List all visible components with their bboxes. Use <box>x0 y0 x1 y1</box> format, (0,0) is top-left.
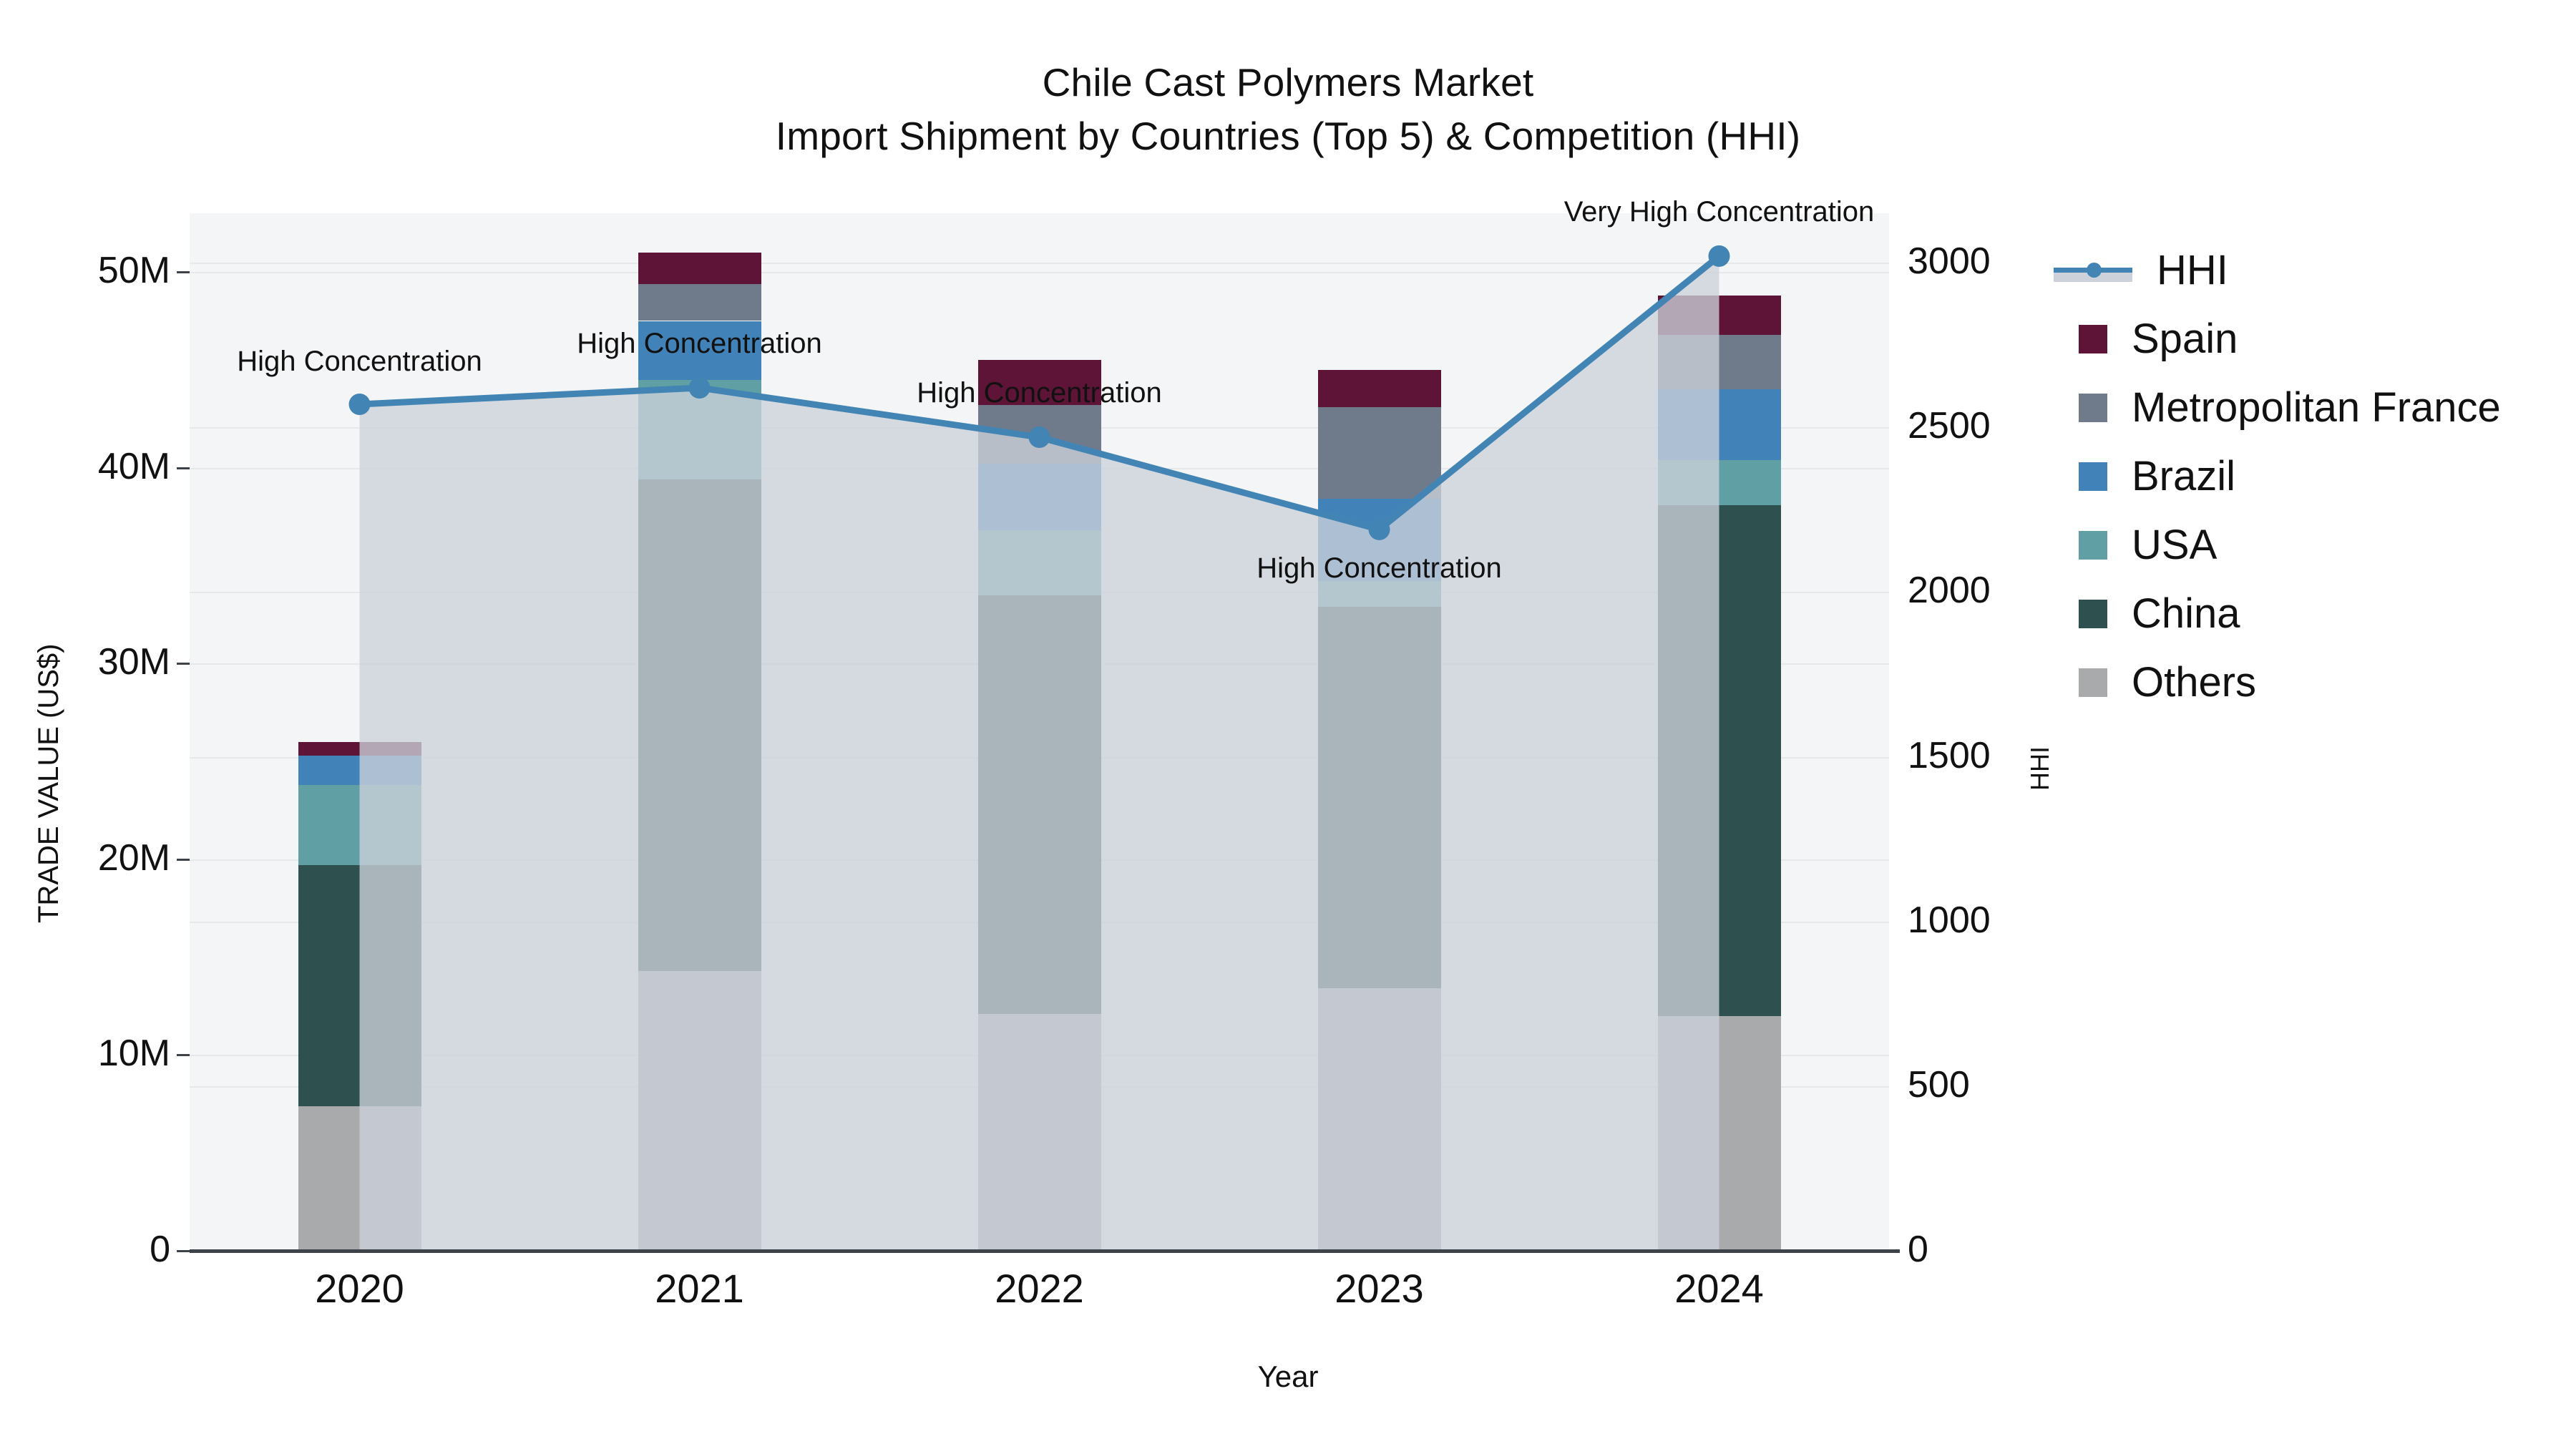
y-axis-left-tickmark-10M <box>177 1054 190 1056</box>
y-axis-left-tick-10M: 10M <box>0 1032 170 1075</box>
y-axis-left-tick-40M: 40M <box>0 445 170 488</box>
y-axis-right-tick-1500: 1500 <box>1908 734 1991 777</box>
x-axis-tick-2022: 2022 <box>897 1265 1183 1312</box>
legend-item-hhi[interactable]: HHI <box>2054 236 2501 305</box>
y-axis-left-tickmark-50M <box>177 271 190 273</box>
y-axis-left-tick-0: 0 <box>0 1228 170 1271</box>
y-axis-left-tickmark-30M <box>177 663 190 665</box>
y-axis-left-tickmark-0 <box>177 1250 190 1252</box>
legend-item-others[interactable]: Others <box>2054 648 2501 717</box>
x-axis-tick-2020: 2020 <box>217 1265 503 1312</box>
legend-swatch-icon <box>2079 462 2107 491</box>
x-axis-baseline <box>190 1249 1900 1253</box>
x-axis-tick-2021: 2021 <box>557 1265 843 1312</box>
legend-item-spain[interactable]: Spain <box>2054 305 2501 374</box>
legend-item-label: USA <box>2132 525 2217 566</box>
legend-item-brazil[interactable]: Brazil <box>2054 442 2501 511</box>
hhi-point-2021[interactable] <box>689 377 711 399</box>
legend-item-label: Metropolitan France <box>2132 387 2501 429</box>
legend-item-label: Brazil <box>2132 456 2235 497</box>
y-axis-left-tickmark-40M <box>177 467 190 469</box>
hhi-point-2024[interactable] <box>1709 245 1730 267</box>
legend-line-dot <box>2087 263 2102 278</box>
legend-item-label: Spain <box>2132 318 2238 360</box>
chart-legend: HHISpainMetropolitan FranceBrazilUSAChin… <box>2054 236 2501 717</box>
legend-swatch-icon <box>2079 531 2107 560</box>
legend-item-label: HHI <box>2157 250 2228 291</box>
y-axis-right-tick-2500: 2500 <box>1908 404 1991 447</box>
x-axis-label: Year <box>0 1360 2576 1394</box>
hhi-annotation-2024: Very High Concentration <box>1433 196 2006 228</box>
legend-swatch-icon <box>2079 668 2107 697</box>
legend-swatch-icon <box>2079 600 2107 628</box>
y-axis-right-tick-1000: 1000 <box>1908 899 1991 942</box>
chart-title-line-1: Chile Cast Polymers Market <box>0 56 2576 109</box>
hhi-point-2022[interactable] <box>1029 426 1050 448</box>
y-axis-left-tickmark-20M <box>177 859 190 861</box>
hhi-point-2023[interactable] <box>1369 519 1390 540</box>
y-axis-right-tick-2000: 2000 <box>1908 569 1991 612</box>
legend-item-usa[interactable]: USA <box>2054 511 2501 580</box>
x-axis-tick-2023: 2023 <box>1236 1265 1523 1312</box>
y-axis-right-tick-3000: 3000 <box>1908 240 1991 283</box>
hhi-point-2020[interactable] <box>349 394 371 415</box>
legend-item-label: Others <box>2132 662 2256 703</box>
legend-swatch-icon <box>2079 394 2107 422</box>
y-axis-left-label: TRADE VALUE (US$) <box>33 644 65 923</box>
hhi-annotation-2023: High Concentration <box>1093 552 1666 585</box>
legend-line-icon <box>2054 256 2132 285</box>
y-axis-right-label: HHI <box>2025 746 2055 791</box>
chart-title-line-2: Import Shipment by Countries (Top 5) & C… <box>0 109 2576 163</box>
hhi-annotation-2021: High Concentration <box>414 328 986 360</box>
chart-root: Chile Cast Polymers Market Import Shipme… <box>0 0 2576 1449</box>
x-axis-tick-2024: 2024 <box>1576 1265 1863 1312</box>
chart-title: Chile Cast Polymers Market Import Shipme… <box>0 56 2576 163</box>
y-axis-left-tick-50M: 50M <box>0 249 170 292</box>
hhi-annotation-2022: High Concentration <box>753 377 1326 409</box>
legend-item-metropolitan-france[interactable]: Metropolitan France <box>2054 374 2501 442</box>
legend-item-china[interactable]: China <box>2054 580 2501 648</box>
y-axis-right-tick-0: 0 <box>1908 1228 1928 1271</box>
y-axis-left-tick-20M: 20M <box>0 836 170 879</box>
y-axis-right-tick-500: 500 <box>1908 1063 1970 1106</box>
legend-item-label: China <box>2132 593 2240 635</box>
y-axis-left-tick-30M: 30M <box>0 640 170 683</box>
legend-swatch-icon <box>2079 325 2107 353</box>
